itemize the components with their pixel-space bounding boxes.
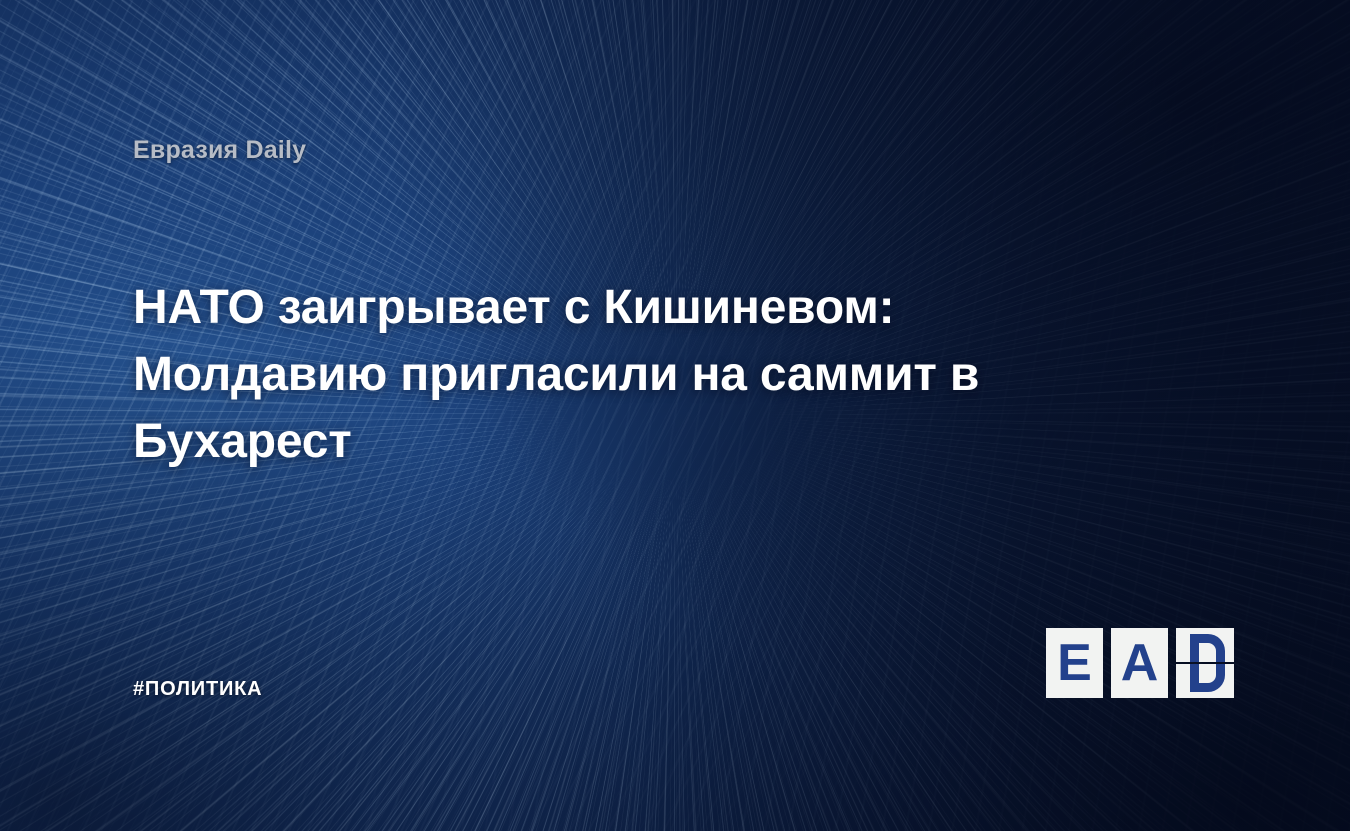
logo-tile-e: E: [1046, 628, 1103, 698]
share-card: Евразия Daily НАТО заигрывает с Кишинево…: [0, 0, 1350, 831]
category-tag[interactable]: #ПОЛИТИКА: [133, 678, 262, 701]
headline: НАТО заигрывает с Кишиневом: Молдавию пр…: [133, 274, 1063, 475]
logo-tile-d: [1176, 628, 1234, 698]
logo-d-lower: [1176, 664, 1234, 698]
logo-tile-a: A: [1111, 628, 1168, 698]
brand-name: Евразия Daily: [133, 136, 306, 165]
logo-d-upper: [1176, 628, 1234, 662]
eadaily-logo[interactable]: E A: [1046, 628, 1234, 698]
card-content: Евразия Daily НАТО заигрывает с Кишинево…: [0, 0, 1350, 831]
